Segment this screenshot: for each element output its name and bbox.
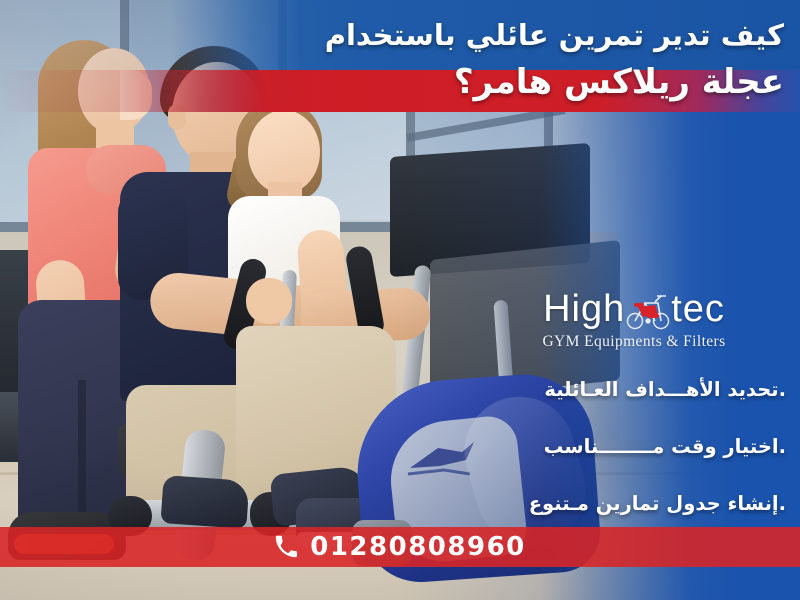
phone-number: 01280808960 xyxy=(310,532,526,562)
ad-banner: كيف تدير تمرين عائلي باستخدام عجلة ريلاك… xyxy=(0,0,800,600)
logo-word-left: High xyxy=(543,288,625,331)
feature-list: .تحديد الأهـــداف العـائلية .اختيار وقت … xyxy=(456,378,786,549)
exercise-bike-icon xyxy=(625,290,671,330)
list-item: .تحديد الأهـــداف العـائلية xyxy=(456,378,786,401)
logo-word-right: tec xyxy=(671,288,725,331)
header-red-band xyxy=(0,70,800,112)
list-item: .إنشاء جدول تمارين مـتنوع xyxy=(456,492,786,515)
phone-bar[interactable]: 01280808960 xyxy=(0,527,800,567)
brand-logo: High tec GYM Equipments & Filters xyxy=(484,288,784,351)
logo-tagline: GYM Equipments & Filters xyxy=(484,333,784,351)
logo-wordmark: High tec xyxy=(484,288,784,331)
list-item: .اختيار وقت مــــــــناسب xyxy=(456,435,786,458)
phone-handset-icon xyxy=(274,535,298,559)
